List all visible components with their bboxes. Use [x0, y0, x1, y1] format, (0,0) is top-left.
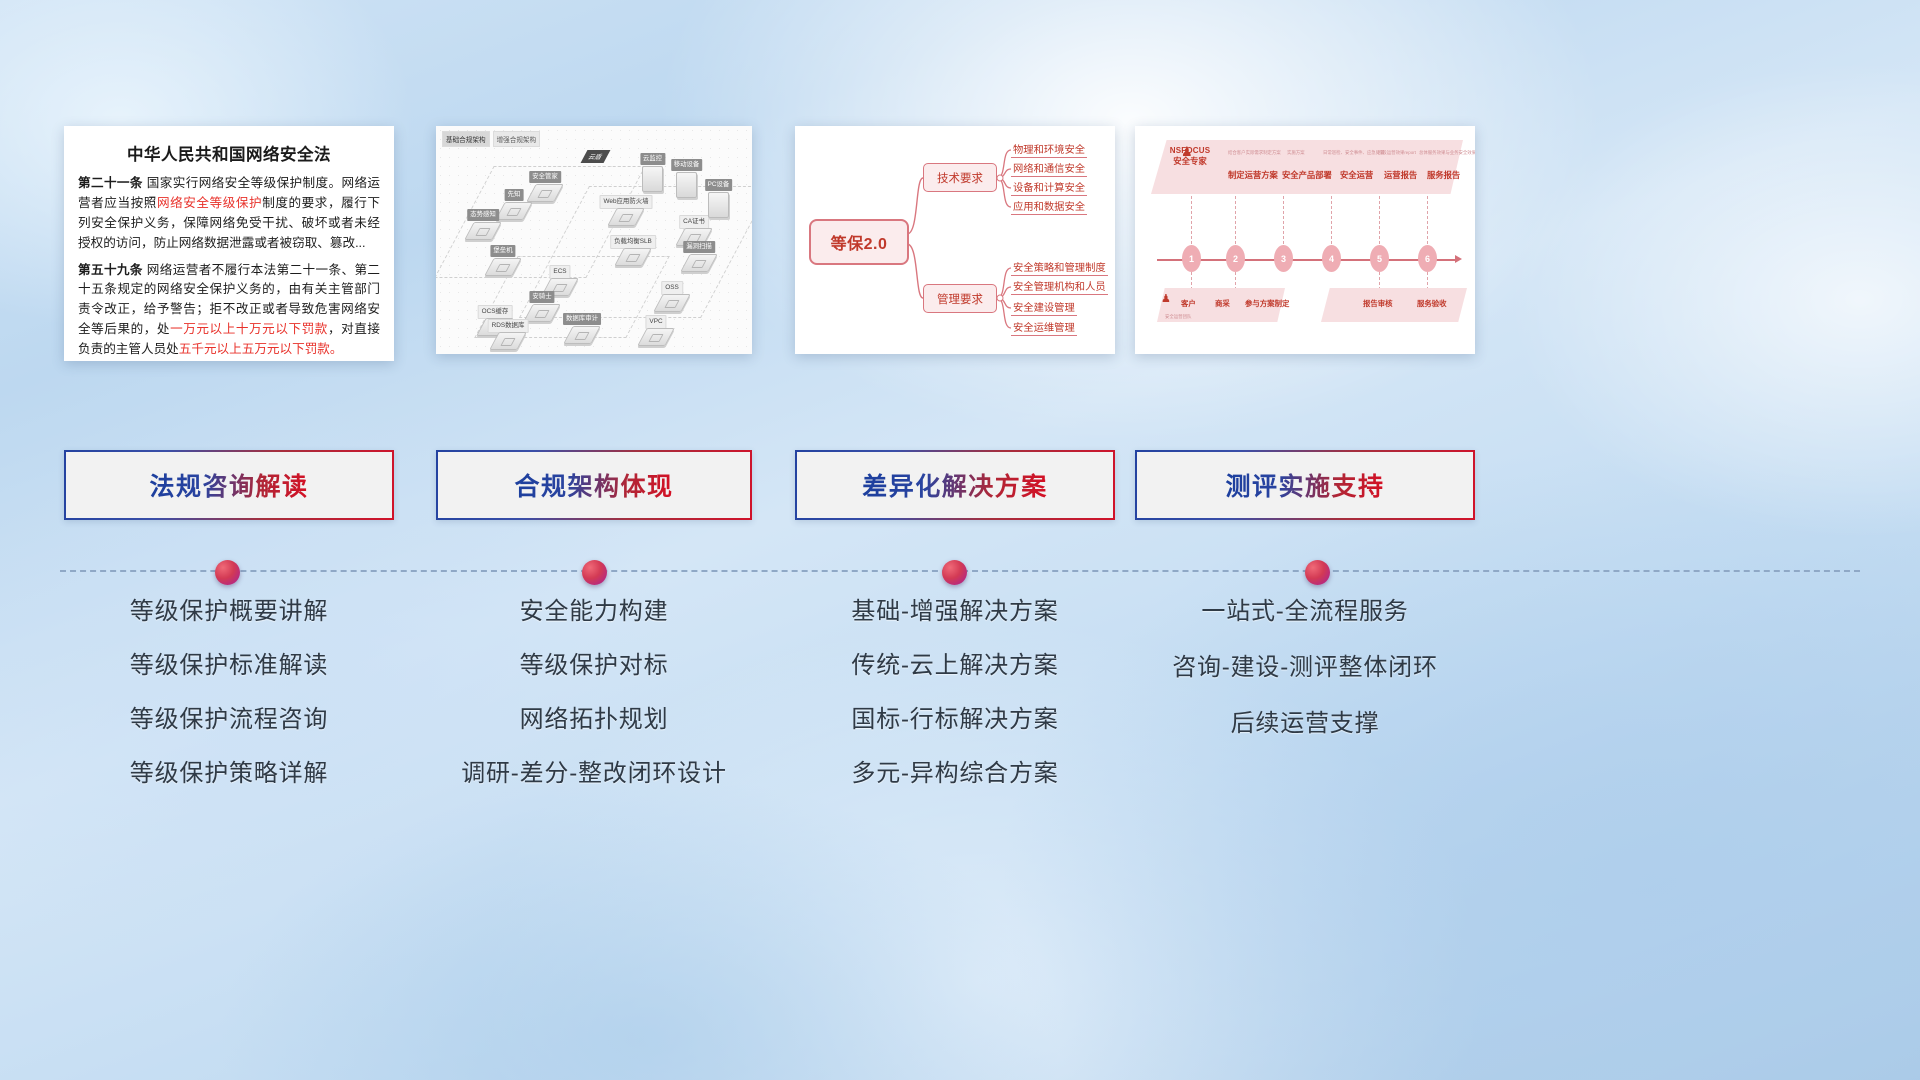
node-shape [642, 166, 663, 192]
node-label: Web应用防火墙 [600, 195, 653, 209]
detail-item: 后续运营支撑 [1135, 712, 1475, 736]
connector-5 [1379, 196, 1381, 244]
bottom-item: 报告审核 [1363, 298, 1393, 309]
node-shape [495, 202, 533, 220]
node-shape [607, 208, 645, 226]
thumbnail-card-row: 中华人民共和国网络安全法 第二十一条 国家实行网络安全等级保护制度。网络运营者应… [0, 126, 1920, 362]
bottom-item: 参与方案制定 [1245, 298, 1289, 309]
detail-item: 等级保护对标 [436, 654, 752, 678]
mindmap-leaf: 网络和通信安全 [1011, 160, 1087, 177]
detail-item: 等级保护流程咨询 [64, 708, 394, 732]
connector-b3 [1379, 272, 1381, 290]
law-seg-1b-highlight: 网络安全等级保护 [157, 196, 262, 210]
node-label: 负载均衡SLB [610, 235, 656, 249]
node-label: 安全管家 [529, 171, 561, 183]
timeline-step-dot: 3 [1274, 245, 1293, 272]
node-shape [464, 222, 502, 240]
node-label: 数据库审计 [563, 313, 601, 325]
connector-b2 [1235, 272, 1237, 290]
node-label: 云监控 [640, 153, 665, 165]
node-waf: Web应用防火墙 [612, 208, 640, 226]
node-shape [680, 254, 718, 272]
mindmap-diagram: 等保2.0 技术要求 管理要求 物理和环境安全 网络和通信安全 设备和计算安全 … [795, 126, 1115, 354]
law-body: 中华人民共和国网络安全法 第二十一条 国家实行网络安全等级保护制度。网络运营者应… [64, 126, 394, 361]
node-pc-device: PC设备 [708, 192, 729, 218]
step-sub: 总体服务效果与业务安全效果 [1419, 150, 1475, 156]
detail-item: 调研-差分-整改闭环设计 [436, 762, 752, 786]
step-major: 服务报告 [1427, 169, 1460, 181]
detail-item: 等级保护概要讲解 [64, 600, 394, 624]
timeline-axis [1157, 259, 1457, 261]
mindmap-leaf: 应用和数据安全 [1011, 198, 1087, 215]
customer-label: 客户 [1181, 298, 1196, 309]
node-shape [614, 248, 652, 266]
detail-item: 等级保护策略详解 [64, 762, 394, 786]
header-box-compliance-architecture[interactable]: 合规架构体现 [436, 450, 752, 520]
step-major: 安全产品部署 [1282, 169, 1332, 181]
node-shape [676, 172, 697, 198]
node-label: 漏洞扫描 [683, 241, 715, 253]
mindmap-branch-technical: 技术要求 [923, 163, 997, 192]
header-box-regulation-consulting[interactable]: 法规咨询解读 [64, 450, 394, 520]
card-service-timeline[interactable]: ♟ NSFOCUS 安全专家 结合客户实际需求制定方案 制定运营方案 实施方案 … [1135, 126, 1475, 354]
mindmap-leaf: 设备和计算安全 [1011, 179, 1087, 196]
mindmap-leaf: 安全运维管理 [1011, 319, 1077, 336]
card-law-document[interactable]: 中华人民共和国网络安全法 第二十一条 国家实行网络安全等级保护制度。网络运营者应… [64, 126, 394, 361]
detail-column-4: 一站式-全流程服务 咨询-建设-测评整体闭环 后续运营支撑 [1135, 600, 1475, 768]
node-label: PC设备 [705, 179, 733, 191]
node-xianzhi: 先知 [500, 202, 528, 220]
node-mobile-device: 移动设备 [676, 172, 697, 198]
node-label: 堡垒机 [490, 245, 515, 257]
architecture-diagram: 基础合规架构 增强合规架构 云盾 安全管家 先知 态势感知 堡垒机 [436, 126, 752, 354]
detail-item: 咨询-建设-测评整体闭环 [1135, 656, 1475, 680]
timeline-step-dot: 2 [1226, 245, 1245, 272]
node-label: 先知 [505, 189, 524, 201]
node-label: CA证书 [679, 215, 709, 229]
node-situational-awareness: 态势感知 [469, 222, 497, 240]
step-major: 运营报告 [1384, 169, 1417, 181]
header-box-differentiated-solution[interactable]: 差异化解决方案 [795, 450, 1115, 520]
mindmap-branch-management: 管理要求 [923, 284, 997, 313]
mindmap-leaf: 物理和环境安全 [1011, 141, 1087, 158]
detail-item: 国标-行标解决方案 [795, 708, 1115, 732]
law-paragraph-2: 第五十九条 网络运营者不履行本法第二十一条、第二十五条规定的网络安全保护义务的，… [78, 261, 380, 360]
customer-person-icon: ♟ [1161, 292, 1171, 305]
law-title: 中华人民共和国网络安全法 [78, 141, 380, 165]
node-cloud-monitor: 云监控 [642, 166, 663, 192]
law-article-label-2: 第五十九条 [78, 263, 143, 277]
header-label: 合规架构体现 [514, 467, 673, 503]
brand-name: NSFOCUS [1159, 146, 1221, 155]
mindmap-leaf: 安全策略和管理制度 [1011, 259, 1108, 276]
node-oss: OSS [658, 294, 686, 312]
timeline-step-dot: 4 [1322, 245, 1341, 272]
mindmap-leaf: 安全管理机构和人员 [1011, 278, 1108, 295]
card-mind-map[interactable]: 等保2.0 技术要求 管理要求 物理和环境安全 网络和通信安全 设备和计算安全 … [795, 126, 1115, 354]
timeline-rail [60, 570, 1860, 574]
node-db-audit: 数据库审计 [568, 326, 596, 344]
connector-3 [1283, 196, 1285, 244]
node-anqishi: 安骑士 [528, 304, 556, 322]
node-security-butler: 安全管家 [531, 184, 559, 202]
node-shape [653, 294, 691, 312]
card-compliance-architecture[interactable]: 基础合规架构 增强合规架构 云盾 安全管家 先知 态势感知 堡垒机 [436, 126, 752, 354]
connector-4 [1331, 196, 1333, 244]
timeline-dot-3[interactable] [942, 560, 967, 585]
node-label: OSS [661, 281, 683, 295]
header-label: 差异化解决方案 [862, 467, 1048, 503]
node-label: VPC [645, 315, 666, 329]
service-timeline-diagram: ♟ NSFOCUS 安全专家 结合客户实际需求制定方案 制定运营方案 实施方案 … [1135, 126, 1475, 354]
header-label: 法规咨询解读 [149, 467, 308, 503]
detail-column-3: 基础-增强解决方案 传统-云上解决方案 国标-行标解决方案 多元-异构综合方案 [795, 600, 1115, 816]
connector-6 [1427, 196, 1429, 244]
connector-b4 [1427, 272, 1429, 290]
law-seg-2b-highlight: 一万元以上十万元以下罚款 [170, 322, 328, 336]
node-bastion-host: 堡垒机 [489, 258, 517, 276]
bottom-item: 服务验收 [1417, 298, 1447, 309]
timeline-dot-4[interactable] [1305, 560, 1330, 585]
detail-item: 传统-云上解决方案 [795, 654, 1115, 678]
tab-basic-architecture[interactable]: 基础合规架构 [442, 131, 490, 147]
timeline-step-dot: 6 [1418, 245, 1437, 272]
mindmap-leaf: 安全建设管理 [1011, 299, 1077, 316]
node-shape [484, 258, 522, 276]
timeline-step-dot: 1 [1182, 245, 1201, 272]
step-sub: 实施方案 [1287, 150, 1305, 156]
step-major: 制定运营方案 [1228, 169, 1278, 181]
brand-role: 安全专家 [1159, 155, 1221, 167]
node-label: ECS [549, 265, 570, 279]
law-seg-2d-highlight: 五千元以上五万元以下罚款。 [179, 342, 343, 356]
header-box-row: 法规咨询解读 合规架构体现 差异化解决方案 测评实施支持 [0, 450, 1920, 522]
node-shape [637, 328, 675, 346]
node-shape [489, 332, 527, 350]
detail-item: 安全能力构建 [436, 600, 752, 624]
brand-block: NSFOCUS 安全专家 [1159, 146, 1221, 167]
node-shape [523, 304, 561, 322]
node-label: 安骑士 [529, 291, 554, 303]
node-label: RDS数据库 [488, 319, 529, 333]
detail-item: 等级保护标准解读 [64, 654, 394, 678]
detail-column-2: 安全能力构建 等级保护对标 网络拓扑规划 调研-差分-整改闭环设计 [436, 600, 752, 816]
node-label: 态势感知 [467, 209, 499, 221]
step-major: 安全运营 [1340, 169, 1373, 181]
node-vpc: VPC [642, 328, 670, 346]
detail-item: 多元-异构综合方案 [795, 762, 1115, 786]
node-vuln-scan: 漏洞扫描 [685, 254, 713, 272]
connector-b1 [1191, 272, 1193, 290]
node-shape [708, 192, 729, 218]
connector-1 [1191, 196, 1193, 244]
law-paragraph-1: 第二十一条 国家实行网络安全等级保护制度。网络运营者应当按照网络安全等级保护制度… [78, 174, 380, 254]
step-sub: 结合客户实际需求制定方案 [1228, 150, 1281, 156]
node-shape [563, 326, 601, 344]
node-rds-database: RDS数据库 [494, 332, 522, 350]
node-label: OCS缓存 [478, 305, 513, 319]
detail-item: 网络拓扑规划 [436, 708, 752, 732]
step-sub: 阶段运营效果report [1378, 150, 1416, 156]
header-box-assessment-support[interactable]: 测评实施支持 [1135, 450, 1475, 520]
timeline-dot-1[interactable] [215, 560, 240, 585]
timeline-arrow-icon [1455, 255, 1462, 263]
timeline-dot-2[interactable] [582, 560, 607, 585]
tab-enhanced-architecture[interactable]: 增强合规架构 [493, 131, 541, 147]
bottom-item: 商采 [1215, 298, 1230, 309]
architecture-tabs[interactable]: 基础合规架构 增强合规架构 [442, 131, 540, 147]
timeline-step-dot: 5 [1370, 245, 1389, 272]
detail-item: 一站式-全流程服务 [1135, 600, 1475, 624]
mindmap-root-node: 等保2.0 [809, 219, 909, 265]
step-sub: 日常巡检、安全事件、应急处置 [1323, 150, 1384, 156]
node-slb: 负载均衡SLB [619, 248, 647, 266]
node-shape [526, 184, 564, 202]
customer-sub: 安全运营团队 [1165, 314, 1191, 320]
connector-2 [1235, 196, 1237, 244]
detail-column-1: 等级保护概要讲解 等级保护标准解读 等级保护流程咨询 等级保护策略详解 [64, 600, 394, 816]
detail-item: 基础-增强解决方案 [795, 600, 1115, 624]
node-label: 移动设备 [671, 159, 703, 171]
header-label: 测评实施支持 [1225, 467, 1384, 503]
law-article-label-1: 第二十一条 [78, 176, 143, 190]
